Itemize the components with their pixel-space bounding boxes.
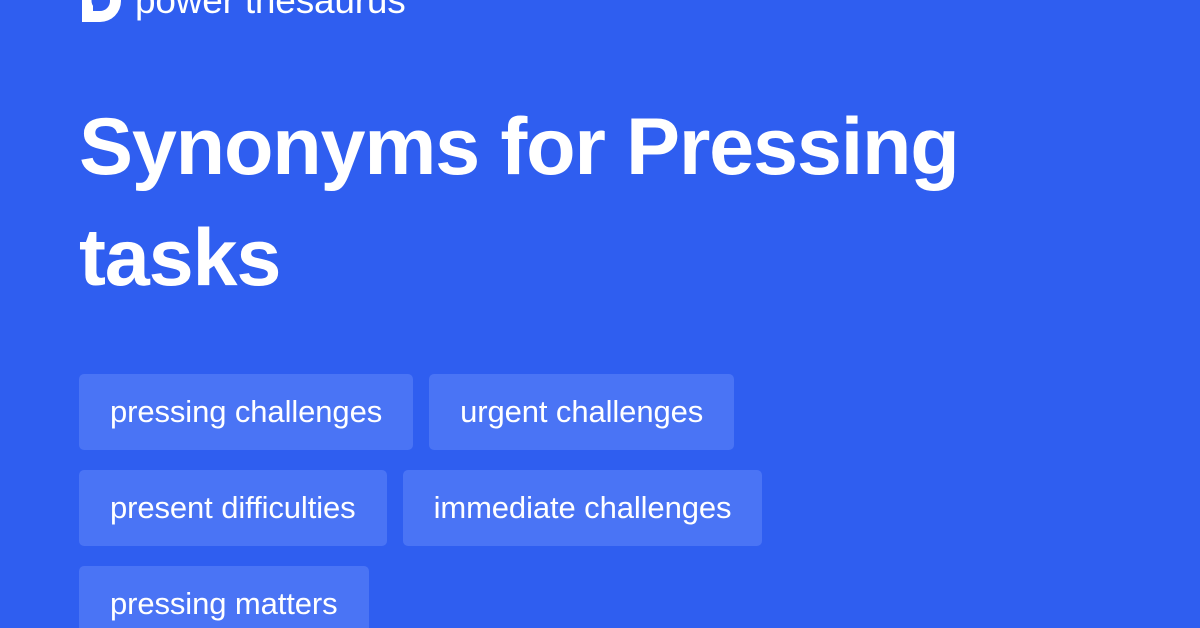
share-card: power thesaurus Synonyms for Pressing ta… <box>0 0 1200 628</box>
synonym-chip-list: pressing challenges urgent challenges pr… <box>79 374 1129 628</box>
power-thesaurus-p-logo-icon <box>79 0 121 22</box>
synonym-chip[interactable]: pressing challenges <box>79 374 413 450</box>
page-title: Synonyms for Pressing tasks <box>79 92 1059 314</box>
synonym-chip[interactable]: pressing matters <box>79 566 369 628</box>
synonym-chip[interactable]: urgent challenges <box>429 374 734 450</box>
synonym-chip-row: pressing matters <box>79 566 1129 628</box>
synonym-chip-row: pressing challenges urgent challenges <box>79 374 1129 450</box>
synonym-chip[interactable]: immediate challenges <box>403 470 763 546</box>
synonym-chip[interactable]: present difficulties <box>79 470 387 546</box>
brand-lockup[interactable]: power thesaurus <box>79 0 406 22</box>
synonym-chip-row: present difficulties immediate challenge… <box>79 470 1129 546</box>
brand-name: power thesaurus <box>135 0 406 22</box>
